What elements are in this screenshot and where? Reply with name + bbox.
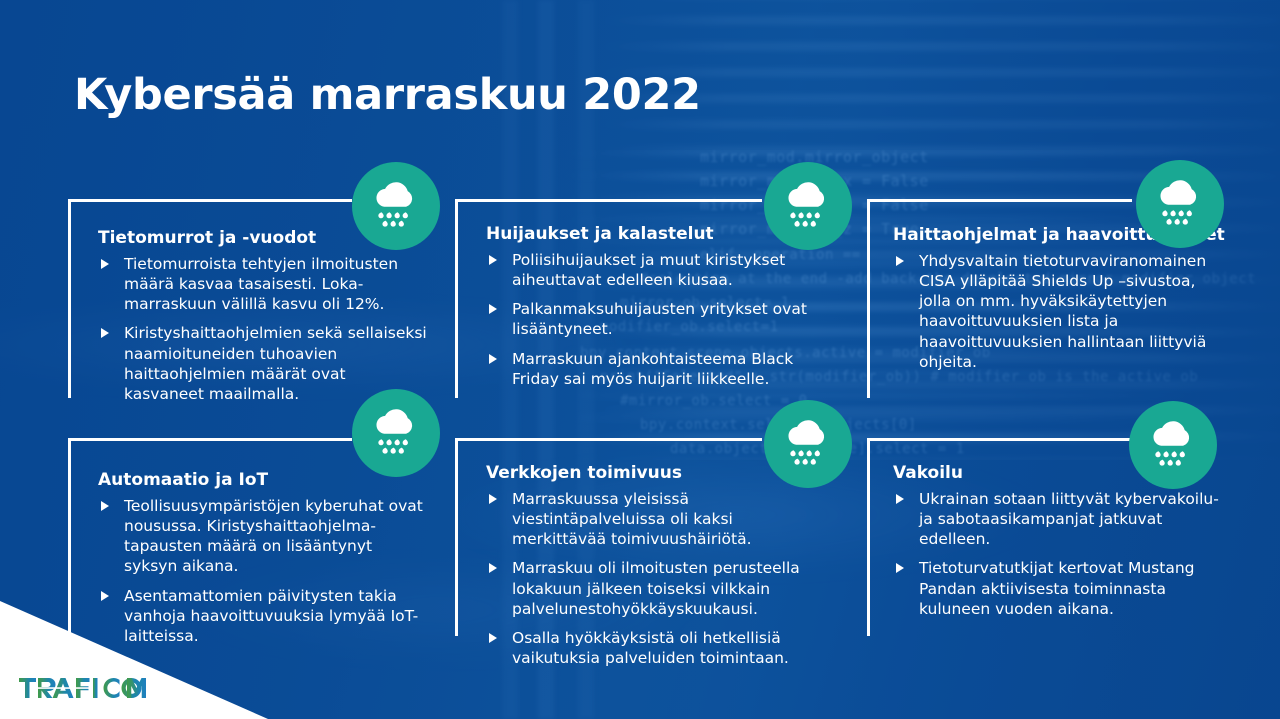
card-bullet-list: Ukrainan sotaan liittyvät kybervakoilu- … — [893, 489, 1229, 619]
card-tietomurrot: Tietomurrot ja -vuodot Tietomurroista te… — [98, 228, 430, 404]
traficom-logo — [18, 675, 146, 701]
slide-root: mirror_mod.mirror_object mirror_mod.use_… — [0, 0, 1280, 719]
rain-cloud-icon-circle-5 — [764, 400, 852, 488]
card-bullet-list: Marraskuussa yleisissä viestintäpalvelui… — [486, 489, 821, 668]
rain-cloud-icon-circle-4 — [352, 389, 440, 477]
list-item-text: Poliisihuijaukset ja muut kiristykset ai… — [512, 251, 785, 289]
rain-cloud-icon — [779, 415, 837, 473]
card-bullet-list: Tietomurroista tehtyjen ilmoitusten määr… — [98, 254, 430, 404]
rain-cloud-icon — [367, 404, 425, 462]
card-huijaukset: Huijaukset ja kalastelut Poliisihuijauks… — [486, 224, 816, 389]
list-item-text: Osalla hyökkäyksistä oli hetkellisiä vai… — [512, 629, 789, 667]
rain-cloud-icon-circle-1 — [352, 162, 440, 250]
bullet-triangle-icon — [101, 591, 109, 601]
card-title: Huijaukset ja kalastelut — [486, 224, 816, 244]
rain-cloud-icon — [1144, 416, 1202, 474]
bullet-triangle-icon — [489, 255, 497, 265]
list-item: Osalla hyökkäyksistä oli hetkellisiä vai… — [486, 628, 821, 668]
list-item-text: Tietoturvatutkijat kertovat Mustang Pand… — [919, 559, 1195, 617]
list-item: Yhdysvaltain tietoturvaviranomainen CISA… — [893, 251, 1229, 372]
list-item: Ukrainan sotaan liittyvät kybervakoilu- … — [893, 489, 1229, 549]
list-item-text: Marraskuun ajankohtaisteema Black Friday… — [512, 350, 793, 388]
card-bullet-list: Teollisuusympäristöjen kyberuhat ovat no… — [98, 496, 428, 646]
card-automaatio: Automaatio ja IoT Teollisuusympäristöjen… — [98, 470, 428, 646]
list-item-text: Ukrainan sotaan liittyvät kybervakoilu- … — [919, 490, 1219, 548]
rain-cloud-icon — [779, 177, 837, 235]
list-item: Palkanmaksuhuijausten yritykset ovat lis… — [486, 299, 816, 339]
rain-cloud-icon-circle-3 — [1136, 160, 1224, 248]
bullet-triangle-icon — [489, 633, 497, 643]
bullet-triangle-icon — [101, 328, 109, 338]
list-item-text: Marraskuu oli ilmoitusten perusteella lo… — [512, 559, 800, 617]
bullet-triangle-icon — [896, 256, 904, 266]
bullet-triangle-icon — [101, 501, 109, 511]
list-item-text: Tietomurroista tehtyjen ilmoitusten määr… — [124, 255, 398, 313]
list-item: Poliisihuijaukset ja muut kiristykset ai… — [486, 250, 816, 290]
list-item: Teollisuusympäristöjen kyberuhat ovat no… — [98, 496, 428, 577]
bullet-triangle-icon — [489, 563, 497, 573]
rain-cloud-icon-circle-2 — [764, 162, 852, 250]
bullet-triangle-icon — [896, 563, 904, 573]
bullet-triangle-icon — [896, 494, 904, 504]
list-item: Marraskuu oli ilmoitusten perusteella lo… — [486, 558, 821, 618]
card-bullet-list: Yhdysvaltain tietoturvaviranomainen CISA… — [893, 251, 1229, 372]
list-item: Marraskuun ajankohtaisteema Black Friday… — [486, 349, 816, 389]
bullet-triangle-icon — [489, 494, 497, 504]
list-item: Tietoturvatutkijat kertovat Mustang Pand… — [893, 558, 1229, 618]
list-item: Tietomurroista tehtyjen ilmoitusten määr… — [98, 254, 430, 314]
card-verkkojen-toimivuus: Verkkojen toimivuus Marraskuussa yleisis… — [486, 463, 821, 668]
page-title: Kybersää marraskuu 2022 — [74, 70, 701, 120]
bullet-triangle-icon — [489, 304, 497, 314]
list-item-text: Palkanmaksuhuijausten yritykset ovat lis… — [512, 300, 807, 338]
list-item: Asentamattomien päivitysten takia vanhoj… — [98, 586, 428, 646]
list-item-text: Marraskuussa yleisissä viestintäpalvelui… — [512, 490, 752, 548]
list-item-text: Yhdysvaltain tietoturvaviranomainen CISA… — [919, 252, 1206, 371]
list-item-text: Teollisuusympäristöjen kyberuhat ovat no… — [124, 497, 423, 575]
list-item: Marraskuussa yleisissä viestintäpalvelui… — [486, 489, 821, 549]
card-bullet-list: Poliisihuijaukset ja muut kiristykset ai… — [486, 250, 816, 389]
bullet-triangle-icon — [489, 354, 497, 364]
rain-cloud-icon — [367, 177, 425, 235]
rain-cloud-icon — [1151, 175, 1209, 233]
bullet-triangle-icon — [101, 259, 109, 269]
list-item-text: Asentamattomien päivitysten takia vanhoj… — [124, 587, 418, 645]
rain-cloud-icon-circle-6 — [1129, 401, 1217, 489]
